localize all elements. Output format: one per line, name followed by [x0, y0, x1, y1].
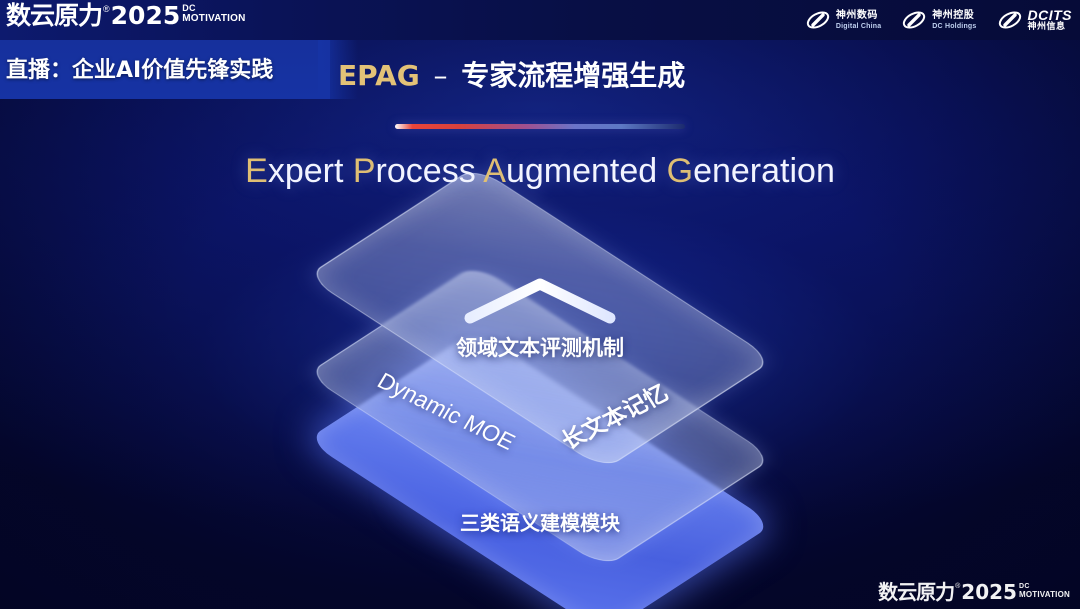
- event-logo-year: 2025: [111, 3, 181, 29]
- footer-watermark-logo: 数云原力 ® 2025 DC MOTIVATION: [878, 582, 1070, 603]
- partner-name-cn: 神州控股: [932, 11, 976, 21]
- page-title-dash: –: [429, 59, 451, 92]
- page-title-chinese: 专家流程增强生成: [461, 59, 685, 92]
- footer-logo-dc-line1: DC: [1019, 583, 1070, 590]
- slide-background: 领域文本评测机制 Dynamic MOE 长文本记忆 三类语义建模模块 数云原力…: [0, 0, 1080, 609]
- page-title-acronym: EPAG: [338, 59, 420, 92]
- live-stream-title: 直播：企业AI价值先锋实践: [6, 52, 273, 84]
- page-subtitle-part-6: G: [667, 152, 693, 190]
- page-subtitle-part-4: A: [483, 152, 506, 190]
- event-logo-cn: 数云原力: [6, 3, 102, 29]
- partner-name-en: Digital China: [836, 23, 881, 30]
- page-subtitle-part-1: xpert: [268, 152, 353, 190]
- page-title: EPAG – 专家流程增强生成: [338, 54, 685, 94]
- partner-dc-holdings: 神州控股 DC Holdings: [901, 8, 976, 32]
- event-logo-dc: DC MOTIVATION: [182, 4, 245, 24]
- partner-name-en: DC Holdings: [932, 23, 976, 30]
- partner-name-cn: 神州信息: [1028, 23, 1073, 32]
- footer-logo-dc-line2: MOTIVATION: [1019, 590, 1070, 599]
- partner-logo-group: 神州数码 Digital China 神州控股 DC Holdings DCIT…: [805, 5, 1072, 35]
- footer-registered-mark: ®: [955, 582, 960, 591]
- partner-name-en: DCITS: [1028, 8, 1073, 22]
- registered-mark: ®: [103, 3, 110, 15]
- partner-dcits: DCITS 神州信息: [997, 8, 1073, 32]
- page-subtitle-part-3: rocess: [376, 152, 484, 190]
- swirl-logo-icon: [901, 8, 927, 32]
- footer-logo-cn: 数云原力: [878, 582, 954, 603]
- partner-dc-holdings-text: 神州控股 DC Holdings: [932, 11, 976, 30]
- event-logo-dc-line2: MOTIVATION: [182, 13, 245, 24]
- swirl-logo-icon: [805, 8, 831, 32]
- footer-logo-year: 2025: [961, 582, 1017, 603]
- layer-top-label: 领域文本评测机制: [0, 332, 1080, 362]
- page-subtitle-part-0: E: [245, 152, 268, 190]
- chevron-up-icon: [460, 272, 620, 332]
- event-logo-dc-line1: DC: [182, 4, 245, 13]
- footer-logo-dc: DC MOTIVATION: [1019, 583, 1070, 599]
- page-subtitle-part-5: ugmented: [506, 152, 667, 190]
- page-subtitle-part-7: eneration: [693, 152, 835, 190]
- partner-dcits-text: DCITS 神州信息: [1028, 8, 1073, 32]
- layer-bottom-label: 三类语义建模模块: [0, 507, 1080, 536]
- swirl-logo-icon: [997, 8, 1023, 32]
- partner-name-cn: 神州数码: [836, 11, 881, 21]
- partner-digital-china-text: 神州数码 Digital China: [836, 11, 881, 30]
- event-logo: 数云原力 ® 2025 DC MOTIVATION: [6, 3, 246, 29]
- partner-digital-china: 神州数码 Digital China: [805, 8, 881, 32]
- title-divider: [395, 124, 685, 129]
- page-subtitle-part-2: P: [353, 152, 376, 190]
- page-subtitle: Expert Process Augmented Generation: [0, 152, 1080, 191]
